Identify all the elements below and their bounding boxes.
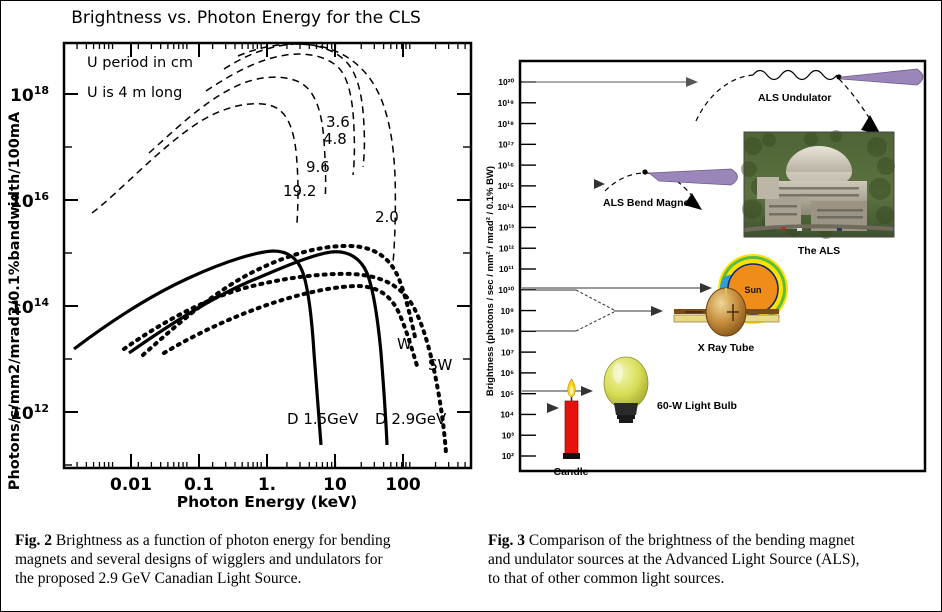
light-bulb-icon [604,357,648,423]
label-the-als: The ALS [798,245,840,257]
curve-label-9-6: 9.6 [306,158,330,176]
figure-3-y-tick-label-8: 10¹² [499,243,514,253]
figure-3-y-tick-label-6: 10¹⁴ [498,202,515,212]
figure-2-caption-line-1: magnets and several designs of wigglers … [15,550,477,569]
figure-2-caption-line-2: the proposed 2.9 GeV Canadian Light Sour… [15,569,477,588]
x-tick-label-1: 0.1 [184,475,214,495]
note-u-period: U period in cm [87,55,193,71]
figure-2-y-axis-label: Photons/s/mm2/mrad2/0.1%bandwidth/100mA [7,111,23,490]
curve-label-D-2-9: D 2.9GeV [375,410,447,428]
sun-leader [522,283,712,293]
curve-label-2-0: 2.0 [375,208,399,226]
figure-2-caption-line-0: Brightness as a function of photon energ… [56,532,391,549]
figure-2-curves [74,44,446,453]
label-als-undulator: ALS Undulator [758,92,832,104]
x-tick-label-0: 0.01 [110,475,152,495]
candle-leader [547,403,559,413]
curve-label-3-6: 3.6 [326,113,350,131]
figure-3-y-tick-label-5: 10¹⁵ [498,181,514,191]
figure-3-y-tick-label-3: 10¹⁷ [498,140,514,150]
figure-2-caption: Fig. 2 Brightness as a function of photo… [15,531,477,588]
figure-3-caption-line-1: and undulator sources at the Advanced Li… [488,550,938,569]
label-light-bulb: 60-W Light Bulb [657,400,737,412]
curve-2-0-upper [238,44,395,263]
figure-2-title: Brightness vs. Photon Energy for the CLS [71,8,421,28]
x-tick-label-2: 1. [258,475,276,495]
figure-3-y-tick-label-2: 10¹⁸ [498,119,514,129]
figure-3-caption: Fig. 3 Comparison of the brightness of t… [488,531,938,588]
figure-3-y-tick-label-17: 10³ [502,430,514,440]
figure-3-y-tick-label-1: 10¹⁹ [498,98,514,108]
als-photo [741,130,895,239]
curve-label-D-1-5: D 1.5GeV [287,410,359,428]
figure-2-y-axis: 1018 1016 1014 1012 [10,84,471,465]
figure-3-y-tick-label-12: 10⁸ [501,327,514,337]
undulator-beam-cone [841,69,923,85]
figure-3-y-tick-label-18: 10² [502,451,514,461]
note-u-length: U is 4 m long [87,85,182,101]
figure-3-y-axis-label: Brightness (photons / sec / mm² / mrad² … [485,166,496,396]
figure-2-panel: Brightness vs. Photon Energy for the CLS [1,1,481,521]
figure-3-y-tick-label-9: 10¹¹ [499,264,514,274]
curve-label-19-2: 19.2 [283,182,316,200]
figure-3-panel: Brightness (photons / sec / mm² / mrad² … [481,1,942,521]
bend-magnet-beam-cone [649,169,738,185]
figure-2-x-axis [77,43,465,468]
figure-3-y-tick-label-10: 10¹⁰ [498,285,514,295]
curve-label-W: W [397,335,412,353]
label-candle: Candle [553,466,588,478]
curve-label-SW: SW [428,356,453,374]
bulb-leader [522,386,593,396]
x-tick-label-4: 100 [385,475,421,495]
x-tick-label-3: 10 [323,475,347,495]
figure-3-caption-line-0: Comparison of the brightness of the bend… [529,532,855,549]
figure-2-x-axis-label: Photon Energy (keV) [177,493,357,511]
figure-2-svg: Brightness vs. Photon Energy for the CLS [1,1,481,521]
bend-magnet-leader [594,179,605,189]
figure-3-y-tick-label-16: 10⁴ [500,410,514,420]
figure-3-y-tick-label-11: 10⁹ [501,306,515,316]
xray-tube-leader [522,290,663,331]
figure-3-y-tick-label-14: 10⁶ [501,368,514,378]
y-tick-label-0: 1018 [10,84,49,106]
figure-page: Brightness vs. Photon Energy for the CLS [0,0,942,612]
figure-3-caption-line-2: to that of other common light sources. [488,569,938,588]
figure-3-svg: Brightness (photons / sec / mm² / mrad² … [481,1,942,521]
label-xray-tube: X Ray Tube [698,342,755,354]
figure-2-caption-lead: Fig. 2 [15,532,52,549]
figure-3-y-tick-label-15: 10⁵ [501,389,514,399]
figure-3-y-tick-label-13: 10⁷ [501,347,514,357]
label-als-bend-magnet: ALS Bend Magnet [603,197,693,209]
figure-3-y-axis: 10²⁰10¹⁹10¹⁸10¹⁷10¹⁶10¹⁵10¹⁴10¹³10¹²10¹¹… [498,77,537,461]
figure-3-caption-lead: Fig. 3 [488,532,525,549]
curve-label-4-8: 4.8 [323,130,347,148]
figure-3-y-tick-label-7: 10¹³ [499,223,514,233]
label-sun: Sun [745,285,762,295]
curve-19-2 [92,104,298,223]
figure-3-y-tick-label-0: 10²⁰ [498,77,514,87]
figure-3-y-tick-label-4: 10¹⁶ [498,160,514,170]
figure-2-plot-frame [64,43,471,468]
curve-3-6 [224,44,364,167]
undulator-leader [522,77,698,87]
